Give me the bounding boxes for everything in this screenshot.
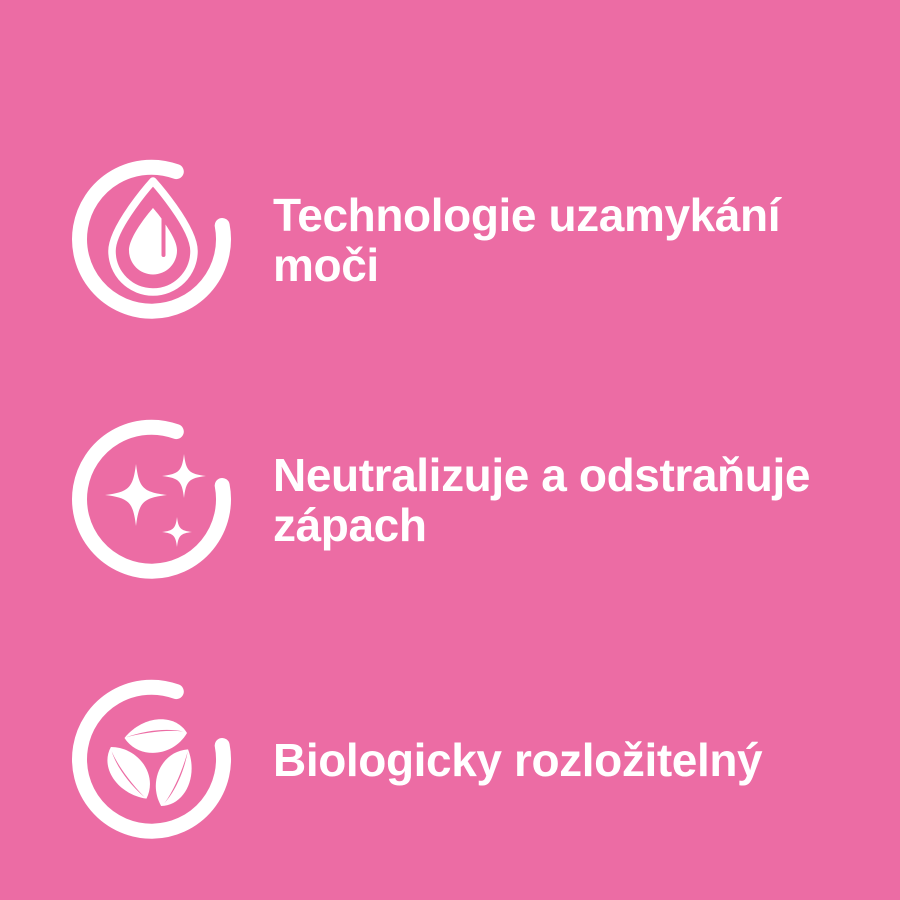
feature-row: Technologie uzamykání moči (0, 110, 900, 370)
feature-row: Neutralizuje a odstraňuje zápach (0, 370, 900, 630)
biodegradable-leaves-icon (73, 680, 233, 840)
urine-lock-droplet-icon (73, 160, 233, 320)
feature-list: Technologie uzamykání moči Neutralizuje … (0, 0, 900, 900)
feature-label: Technologie uzamykání moči (273, 190, 780, 290)
feature-label: Biologicky rozložitelný (273, 735, 762, 785)
feature-row: Biologicky rozložitelný (0, 630, 900, 890)
feature-label: Neutralizuje a odstraňuje zápach (273, 450, 810, 550)
odour-neutralise-sparkle-icon (73, 420, 233, 580)
feature-poster: Technologie uzamykání moči Neutralizuje … (0, 0, 900, 900)
